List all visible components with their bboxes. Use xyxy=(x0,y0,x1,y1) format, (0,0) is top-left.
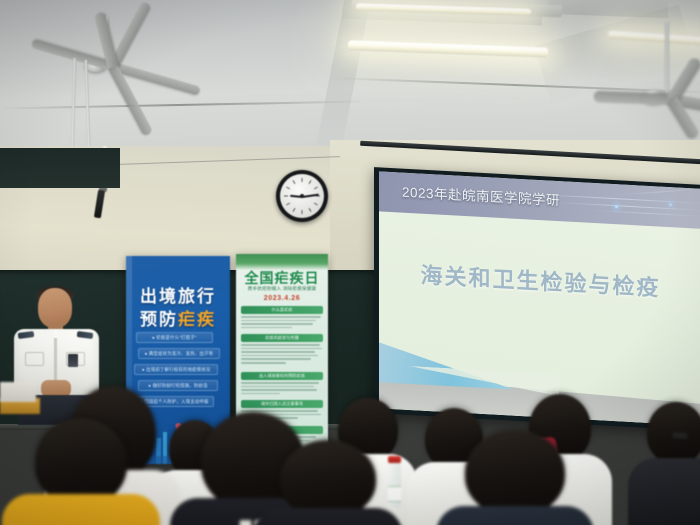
slide-header-dot xyxy=(615,205,618,208)
banner-blue-bullet: ● 典型症状为发冷、发热、出汗等 xyxy=(138,348,221,359)
desk-surface xyxy=(0,382,36,402)
slide-header-line xyxy=(554,202,700,211)
slide-header-dot xyxy=(669,203,672,206)
slide-title: 海关和卫生检验与检疫 xyxy=(379,255,700,304)
banner-green-section-heading: 什么是疟疾 xyxy=(241,306,323,314)
water-bottle-cap xyxy=(388,456,401,463)
banner-blue-title-plain: 预防 xyxy=(140,310,178,329)
blackboard-upper-left-panel xyxy=(0,148,120,188)
slide-header-line xyxy=(589,210,700,217)
banner-blue-bullet: ● 出境前了解行程目的地疫情状况 xyxy=(134,364,219,375)
clock-center-pin xyxy=(300,194,304,198)
audience-member-2 xyxy=(20,418,142,525)
banner-green-section-body xyxy=(241,344,323,364)
clock-face xyxy=(280,174,324,218)
speaker-head xyxy=(38,288,72,328)
banner-green-section: 疟疾的症状与传播 xyxy=(241,334,323,366)
audience-shoulders xyxy=(2,494,160,525)
speaker-chest-pocket-left xyxy=(25,352,44,366)
audience-shoulders xyxy=(436,506,594,525)
fan-blade xyxy=(594,91,672,105)
banner-green-section: 什么是疟疾 xyxy=(241,306,323,330)
water-bottle-label xyxy=(388,486,401,502)
audience-head xyxy=(280,440,376,518)
banner-green-section: 出入境旅客如何预防疟疾 xyxy=(241,372,323,396)
classroom-photo: 海关和卫生检验与检疫 2023年赴皖南医学院学研 出境旅行 预防疟疾 ● 疟疾是… xyxy=(0,0,700,525)
wall-clock xyxy=(276,170,328,222)
water-bottle xyxy=(388,462,401,508)
speaker-name-badge xyxy=(68,354,78,367)
banner-green-date: 2023.4.26 xyxy=(236,295,328,302)
audience-head xyxy=(35,418,127,506)
fan-downrod xyxy=(665,22,669,94)
slide-header-line xyxy=(611,188,700,196)
banner-green-section-body xyxy=(241,316,323,328)
banner-blue-title-line1: 出境旅行 xyxy=(126,282,230,307)
ceiling-beam xyxy=(315,0,370,150)
audience-shoulders xyxy=(628,458,700,525)
banner-green-section-heading: 出入境旅客如何预防疟疾 xyxy=(241,372,323,380)
projection-screen-surface: 海关和卫生检验与检疫 2023年赴皖南医学院学研 xyxy=(379,171,700,425)
audience-shoulders xyxy=(253,508,403,525)
banner-green-section-body xyxy=(241,382,323,394)
banner-green-title: 全国疟疾日 xyxy=(236,268,328,288)
audience-head xyxy=(465,430,565,516)
banner-blue-title-highlight: 疟疾 xyxy=(178,310,216,329)
banner-blue-bullet: ● 疟疾是什么"打摆子" xyxy=(136,332,213,343)
audience-member-9 xyxy=(640,402,700,525)
banner-green-subtitle: 携手抗疟防输入 消除疟疾保健康 xyxy=(236,286,328,292)
clock-tick xyxy=(301,196,302,214)
banner-green-section-heading: 疟疾的症状与传播 xyxy=(241,334,323,342)
tshirt-graphic-box xyxy=(240,520,252,525)
audience-member-4b xyxy=(268,440,388,525)
slide-header-text: 2023年赴皖南医学院学研 xyxy=(402,181,560,210)
banner-blue-title-line2: 预防疟疾 xyxy=(126,305,230,330)
banner-green-section-heading: 境外归国人员注意事项 xyxy=(241,400,323,408)
projection-screen[interactable]: 海关和卫生检验与检疫 2023年赴皖南医学院学研 xyxy=(374,167,700,431)
ceiling-fan-left xyxy=(45,16,275,126)
audience-member-8 xyxy=(452,430,578,525)
ceiling-fan-right xyxy=(600,22,700,132)
